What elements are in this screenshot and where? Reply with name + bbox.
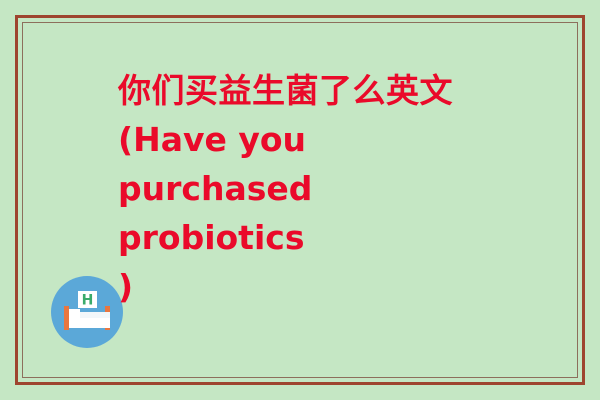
headline-line-1: 你们买益生菌了么英文	[118, 66, 566, 115]
icon-bed-mattress	[69, 318, 110, 328]
headline-line-2: (Have you	[118, 115, 566, 164]
headline-line-3: purchased	[118, 164, 566, 213]
page-title: 你们买益生菌了么英文(Have youpurchasedprobiotics)	[118, 66, 566, 311]
hospital-bed-icon: H	[51, 276, 123, 348]
headline-line-4: probiotics	[118, 213, 566, 262]
icon-bed-post-left	[64, 306, 69, 330]
headline-line-5: )	[118, 262, 566, 311]
icon-bed-pillow	[69, 309, 80, 318]
icon-h-sign-letter: H	[82, 293, 94, 309]
icon-bed-upper-sheet	[80, 312, 110, 318]
banner-canvas: H 你们买益生菌了么英文(Have youpurchasedprobiotics…	[0, 0, 600, 400]
headline-block: 你们买益生菌了么英文(Have youpurchasedprobiotics)	[118, 66, 566, 366]
